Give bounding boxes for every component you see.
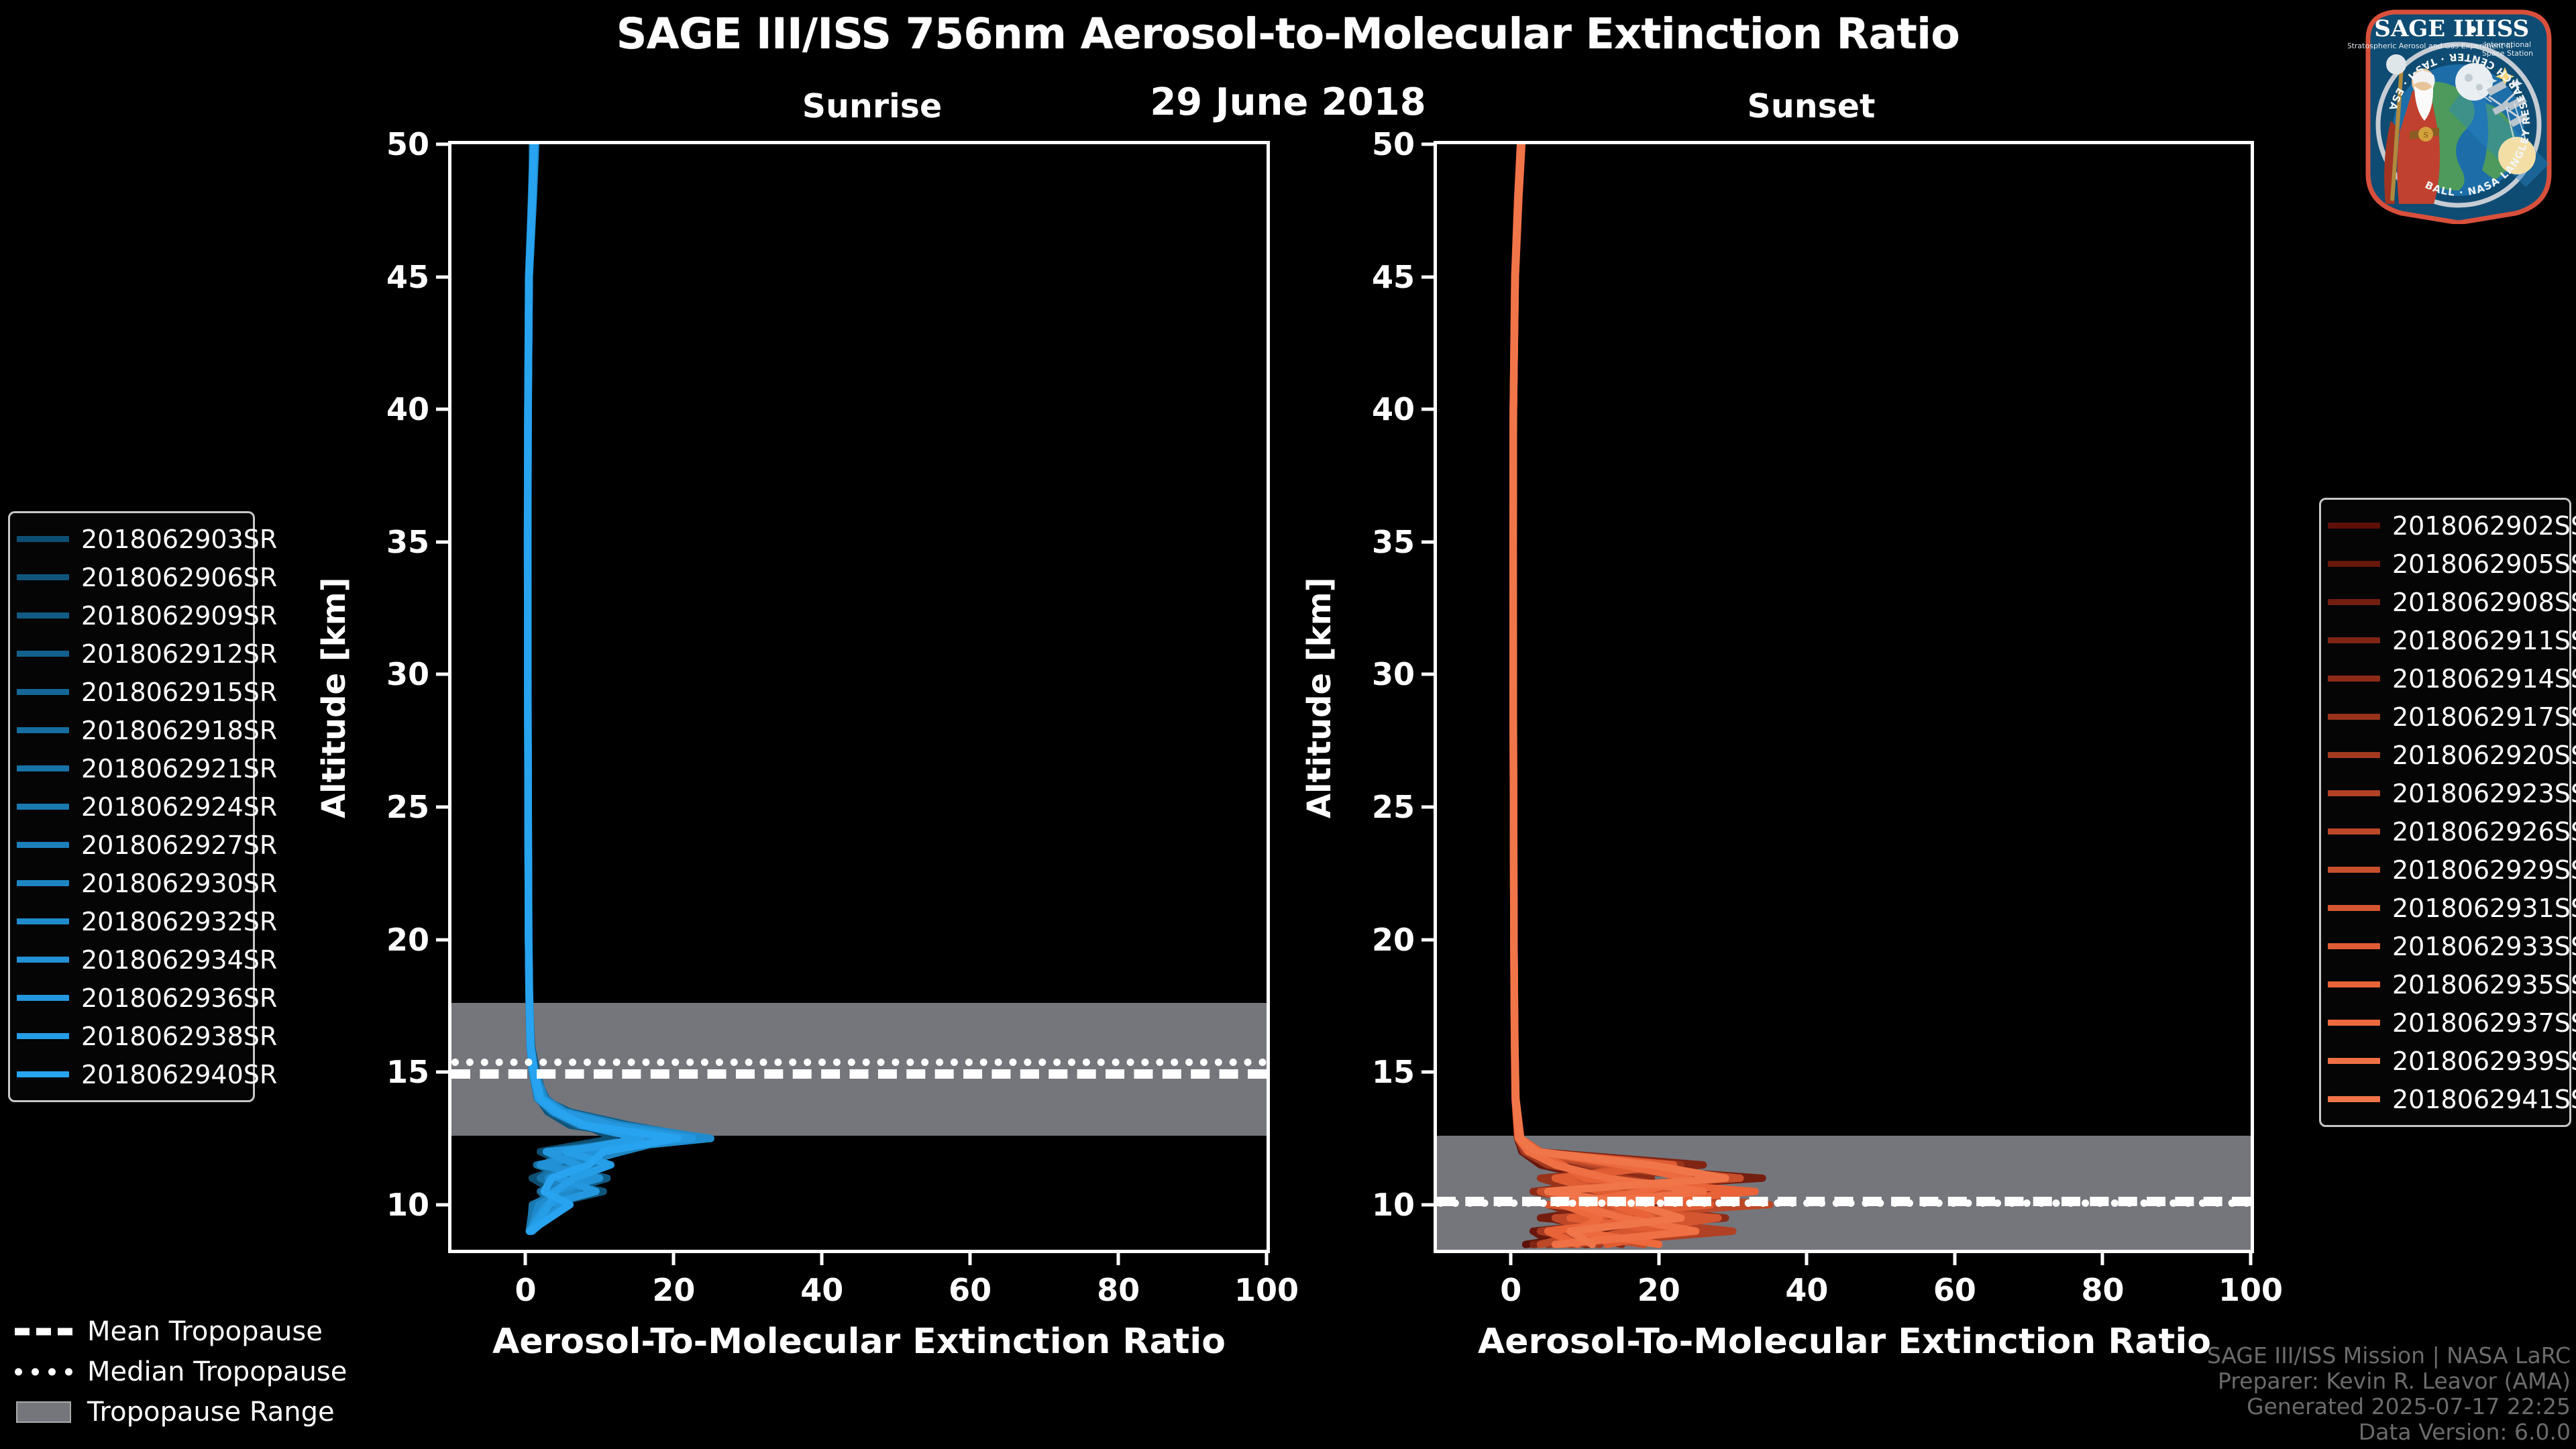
legend-color-swatch bbox=[2328, 523, 2380, 529]
sunset-x-axis-title: Aerosol-To-Molecular Extinction Ratio bbox=[1366, 1322, 2322, 1362]
y-axis-tick-label: 40 bbox=[362, 391, 429, 427]
legend-item-label: 2018062918SR bbox=[81, 716, 277, 745]
svg-text:ISS: ISS bbox=[2486, 15, 2529, 42]
y-axis-tick-label: 50 bbox=[1348, 126, 1415, 162]
legend-item[interactable]: 2018062931SS bbox=[2328, 889, 2560, 927]
profile-line bbox=[1513, 144, 1726, 1244]
x-axis-tick-mark bbox=[2249, 1253, 2253, 1265]
y-axis-tick-label: 15 bbox=[362, 1054, 429, 1090]
tropopause-legend-item: Mean Tropopause bbox=[15, 1311, 390, 1352]
legend-color-swatch bbox=[2328, 714, 2380, 720]
x-axis-tick-mark bbox=[1509, 1253, 1513, 1265]
legend-item-label: 2018062914SS bbox=[2392, 664, 2576, 694]
legend-item-label: 2018062915SR bbox=[81, 678, 277, 707]
x-axis-tick-mark bbox=[1657, 1253, 1660, 1265]
y-axis-tick-label: 35 bbox=[1348, 524, 1415, 560]
profile-curves bbox=[1437, 144, 2251, 1250]
profile-curves bbox=[451, 144, 1267, 1250]
x-axis-tick-label: 0 bbox=[1500, 1272, 1521, 1308]
profile-line bbox=[1513, 144, 1726, 1244]
x-axis-tick-label: 20 bbox=[1638, 1272, 1680, 1308]
profile-line bbox=[527, 144, 692, 1231]
median-tropopause-line bbox=[1437, 1199, 2251, 1207]
profile-line bbox=[527, 144, 614, 1231]
legend-color-swatch bbox=[2328, 676, 2380, 682]
profile-line bbox=[528, 144, 696, 1231]
legend-item-label: 2018062921SR bbox=[81, 754, 277, 784]
legend-color-swatch bbox=[17, 880, 69, 886]
y-axis-tick-mark bbox=[436, 806, 448, 809]
y-axis-tick-mark bbox=[1421, 1071, 1434, 1074]
x-axis-tick-label: 40 bbox=[1785, 1272, 1828, 1308]
profile-line bbox=[1513, 144, 1763, 1244]
legend-item-label: 2018062931SS bbox=[2392, 894, 2576, 923]
legend-item-label: 2018062911SS bbox=[2392, 626, 2576, 655]
y-axis-tick-mark bbox=[1421, 408, 1434, 411]
legend-color-swatch bbox=[17, 842, 69, 848]
legend-item-label: 2018062929SS bbox=[2392, 855, 2576, 885]
profile-line bbox=[1513, 144, 1711, 1244]
legend-item[interactable]: 2018062921SR bbox=[17, 749, 244, 788]
y-axis-tick-label: 20 bbox=[362, 922, 429, 958]
x-axis-tick-label: 60 bbox=[1933, 1272, 1976, 1308]
profile-line bbox=[1513, 144, 1688, 1244]
legend-color-swatch bbox=[17, 1033, 69, 1039]
legend-item-label: 2018062903SR bbox=[81, 525, 277, 554]
legend-item[interactable]: 2018062939SS bbox=[2328, 1042, 2560, 1080]
profile-line bbox=[1513, 144, 1718, 1244]
legend-color-swatch bbox=[2328, 828, 2380, 835]
svg-text:SAGE III: SAGE III bbox=[2374, 15, 2485, 42]
profile-line bbox=[527, 144, 644, 1231]
legend-color-swatch bbox=[17, 995, 69, 1001]
svg-text:S: S bbox=[2423, 131, 2428, 140]
legend-color-swatch bbox=[17, 957, 69, 963]
legend-item[interactable]: 2018062924SR bbox=[17, 788, 244, 826]
legend-color-swatch bbox=[17, 612, 69, 619]
legend-item[interactable]: 2018062937SS bbox=[2328, 1004, 2560, 1042]
sage-iii-iss-mission-patch-logo: S BALL · NASA LANGLEY RESEARCH CENTER · … bbox=[2348, 3, 2569, 224]
legend-item[interactable]: 2018062908SS bbox=[2328, 583, 2560, 621]
page-title: SAGE III/ISS 756nm Aerosol-to-Molecular … bbox=[0, 9, 2576, 58]
legend-item[interactable]: 2018062941SS bbox=[2328, 1080, 2560, 1118]
x-axis-tick-mark bbox=[1953, 1253, 1956, 1265]
legend-color-swatch bbox=[2328, 561, 2380, 567]
tropopause-legend-label: Mean Tropopause bbox=[87, 1316, 323, 1347]
legend-color-swatch bbox=[17, 804, 69, 810]
legend-item[interactable]: 2018062936SR bbox=[17, 979, 244, 1017]
legend-color-swatch bbox=[2328, 943, 2380, 949]
legend-item[interactable]: 2018062923SS bbox=[2328, 774, 2560, 812]
legend-item-label: 2018062902SS bbox=[2392, 511, 2576, 541]
y-axis-tick-label: 35 bbox=[362, 524, 429, 560]
sunrise-legend[interactable]: 2018062903SR2018062906SR2018062909SR2018… bbox=[8, 511, 255, 1102]
legend-item-label: 2018062920SS bbox=[2392, 741, 2576, 770]
legend-color-swatch bbox=[17, 574, 69, 580]
legend-color-swatch bbox=[2328, 981, 2380, 987]
legend-item-label: 2018062939SS bbox=[2392, 1046, 2576, 1076]
median-tropopause-line bbox=[451, 1059, 1267, 1066]
tropopause-legend: Mean TropopauseMedian TropopauseTropopau… bbox=[15, 1311, 390, 1432]
legend-color-swatch bbox=[17, 727, 69, 733]
tropopause-legend-item: Median Tropopause bbox=[15, 1352, 390, 1392]
sunrise-y-axis-title: Altitude [km] bbox=[315, 577, 353, 818]
legend-color-swatch bbox=[2328, 867, 2380, 873]
legend-item-label: 2018062934SR bbox=[81, 945, 277, 975]
y-axis-tick-label: 30 bbox=[1348, 656, 1415, 692]
profile-line bbox=[528, 144, 689, 1231]
y-axis-tick-label: 20 bbox=[1348, 922, 1415, 958]
legend-item-label: 2018062923SS bbox=[2392, 779, 2576, 808]
profile-line bbox=[1513, 144, 1703, 1244]
sunset-panel-label: Sunset bbox=[1610, 87, 2012, 125]
legend-color-swatch bbox=[2328, 905, 2380, 911]
legend-color-swatch bbox=[17, 765, 69, 771]
y-axis-tick-mark bbox=[436, 143, 448, 146]
legend-color-swatch bbox=[17, 536, 69, 542]
mean-tropopause-line bbox=[451, 1069, 1267, 1079]
y-axis-tick-mark bbox=[1421, 143, 1434, 146]
legend-item-label: 2018062908SS bbox=[2392, 588, 2576, 617]
y-axis-tick-label: 25 bbox=[1348, 789, 1415, 825]
legend-item-label: 2018062909SR bbox=[81, 601, 277, 631]
y-axis-tick-label: 45 bbox=[362, 259, 429, 295]
profile-line bbox=[1513, 144, 1733, 1244]
legend-item[interactable]: 2018062938SR bbox=[17, 1017, 244, 1055]
x-axis-tick-label: 60 bbox=[949, 1272, 991, 1308]
profile-line bbox=[1513, 144, 1741, 1244]
legend-item[interactable]: 2018062906SR bbox=[17, 558, 244, 596]
legend-item[interactable]: 2018062934SR bbox=[17, 941, 244, 979]
profile-line bbox=[528, 144, 641, 1231]
y-axis-tick-mark bbox=[436, 275, 448, 278]
legend-item[interactable]: 2018062926SS bbox=[2328, 812, 2560, 851]
sunrise-panel-label: Sunrise bbox=[671, 87, 1073, 125]
legend-item-label: 2018062932SR bbox=[81, 907, 277, 936]
sunrise-plot-area bbox=[448, 141, 1270, 1253]
legend-item[interactable]: 2018062903SR bbox=[17, 520, 244, 558]
legend-color-swatch bbox=[2328, 1020, 2380, 1026]
profile-line bbox=[528, 144, 678, 1231]
y-axis-tick-mark bbox=[1421, 938, 1434, 941]
y-axis-tick-mark bbox=[436, 408, 448, 411]
profile-line bbox=[1513, 144, 1719, 1244]
y-axis-tick-mark bbox=[1421, 1203, 1434, 1206]
profile-line bbox=[528, 144, 652, 1231]
y-axis-tick-mark bbox=[436, 540, 448, 543]
footer-credits: SAGE III/ISS Mission | NASA LaRC Prepare… bbox=[2207, 1343, 2571, 1445]
legend-item-label: 2018062912SR bbox=[81, 639, 277, 669]
profile-line bbox=[1513, 144, 1748, 1244]
x-axis-tick-mark bbox=[820, 1253, 824, 1265]
y-axis-tick-mark bbox=[436, 673, 448, 676]
legend-color-swatch bbox=[2328, 1096, 2380, 1102]
profile-line bbox=[1513, 144, 1696, 1244]
legend-color-swatch bbox=[2328, 599, 2380, 605]
legend-item[interactable]: 2018062918SR bbox=[17, 711, 244, 749]
legend-item[interactable]: 2018062914SS bbox=[2328, 659, 2560, 698]
legend-color-swatch bbox=[17, 918, 69, 924]
x-axis-tick-mark bbox=[2101, 1253, 2104, 1265]
legend-item-label: 2018062927SR bbox=[81, 830, 277, 860]
legend-color-swatch bbox=[2328, 790, 2380, 796]
x-axis-tick-mark bbox=[1805, 1253, 1809, 1265]
y-axis-tick-mark bbox=[1421, 806, 1434, 809]
footer-generated: Generated 2025-07-17 22:25 bbox=[2207, 1394, 2571, 1419]
svg-text:Space Station: Space Station bbox=[2482, 49, 2533, 58]
tropopause-legend-key bbox=[15, 1405, 72, 1419]
profile-line bbox=[1513, 144, 1704, 1244]
legend-item-label: 2018062905SS bbox=[2392, 549, 2576, 579]
profile-line bbox=[1513, 144, 1756, 1244]
x-axis-tick-label: 40 bbox=[800, 1272, 843, 1308]
profile-line bbox=[528, 144, 659, 1231]
legend-item-label: 2018062930SR bbox=[81, 869, 277, 898]
x-axis-tick-mark bbox=[969, 1253, 972, 1265]
profile-line bbox=[528, 144, 667, 1231]
tropopause-legend-key bbox=[15, 1324, 72, 1339]
legend-item[interactable]: 2018062915SR bbox=[17, 673, 244, 711]
y-axis-tick-label: 50 bbox=[362, 126, 429, 162]
x-axis-tick-label: 100 bbox=[2218, 1272, 2283, 1308]
profile-line bbox=[528, 144, 674, 1231]
legend-item[interactable]: 2018062927SR bbox=[17, 826, 244, 864]
legend-item[interactable]: 2018062940SR bbox=[17, 1055, 244, 1093]
profile-line bbox=[527, 144, 681, 1231]
legend-item-label: 2018062940SR bbox=[81, 1060, 277, 1089]
y-axis-tick-label: 45 bbox=[1348, 259, 1415, 295]
y-axis-tick-label: 10 bbox=[1348, 1187, 1415, 1223]
footer-preparer: Preparer: Kevin R. Leavor (AMA) bbox=[2207, 1368, 2571, 1394]
sunset-y-axis-title: Altitude [km] bbox=[1301, 577, 1338, 818]
y-axis-tick-mark bbox=[1421, 673, 1434, 676]
x-axis-tick-mark bbox=[524, 1253, 527, 1265]
legend-item-label: 2018062906SR bbox=[81, 563, 277, 592]
legend-item[interactable]: 2018062930SR bbox=[17, 864, 244, 902]
y-axis-tick-label: 40 bbox=[1348, 391, 1415, 427]
legend-item[interactable]: 2018062929SS bbox=[2328, 851, 2560, 889]
y-axis-tick-mark bbox=[436, 938, 448, 941]
legend-item[interactable]: 2018062912SR bbox=[17, 635, 244, 673]
legend-item[interactable]: 2018062920SS bbox=[2328, 736, 2560, 774]
profile-line bbox=[1513, 144, 1733, 1244]
svg-text:International: International bbox=[2484, 40, 2531, 49]
legend-item[interactable]: 2018062933SS bbox=[2328, 927, 2560, 965]
legend-item[interactable]: 2018062909SR bbox=[17, 596, 244, 635]
tropopause-legend-label: Median Tropopause bbox=[87, 1356, 347, 1387]
legend-color-swatch bbox=[2328, 1058, 2380, 1064]
date-subtitle: 29 June 2018 bbox=[0, 80, 2576, 124]
legend-item-label: 2018062917SS bbox=[2392, 702, 2576, 732]
legend-color-swatch bbox=[17, 689, 69, 695]
legend-item[interactable]: 2018062917SS bbox=[2328, 698, 2560, 736]
legend-item[interactable]: 2018062911SS bbox=[2328, 621, 2560, 659]
footer-mission: SAGE III/ISS Mission | NASA LaRC bbox=[2207, 1343, 2571, 1368]
y-axis-tick-label: 15 bbox=[1348, 1054, 1415, 1090]
x-axis-tick-label: 80 bbox=[2081, 1272, 2124, 1308]
tropopause-legend-item: Tropopause Range bbox=[15, 1392, 390, 1432]
x-axis-tick-mark bbox=[1117, 1253, 1120, 1265]
x-axis-tick-label: 80 bbox=[1097, 1272, 1140, 1308]
legend-color-swatch bbox=[17, 651, 69, 657]
y-axis-tick-label: 10 bbox=[362, 1187, 429, 1223]
y-axis-tick-label: 30 bbox=[362, 656, 429, 692]
profile-line bbox=[1513, 144, 1770, 1244]
legend-item[interactable]: 2018062905SS bbox=[2328, 545, 2560, 583]
y-axis-tick-mark bbox=[1421, 540, 1434, 543]
x-axis-tick-label: 0 bbox=[515, 1272, 536, 1308]
sunset-legend[interactable]: 2018062902SS2018062905SS2018062908SS2018… bbox=[2319, 498, 2571, 1127]
footer-data-version: Data Version: 6.0.0 bbox=[2207, 1419, 2571, 1445]
y-axis-tick-mark bbox=[1421, 275, 1434, 278]
x-axis-tick-label: 100 bbox=[1234, 1272, 1299, 1308]
legend-item-label: 2018062936SR bbox=[81, 983, 277, 1013]
profile-line bbox=[528, 144, 663, 1231]
sunrise-x-axis-title: Aerosol-To-Molecular Extinction Ratio bbox=[381, 1322, 1337, 1362]
y-axis-tick-mark bbox=[436, 1071, 448, 1074]
tropopause-legend-label: Tropopause Range bbox=[87, 1397, 335, 1428]
legend-item[interactable]: 2018062935SS bbox=[2328, 965, 2560, 1004]
legend-color-swatch bbox=[17, 1071, 69, 1077]
legend-item[interactable]: 2018062932SR bbox=[17, 902, 244, 941]
legend-color-swatch bbox=[2328, 752, 2380, 758]
sunset-plot-area bbox=[1434, 141, 2254, 1253]
x-axis-tick-label: 20 bbox=[652, 1272, 695, 1308]
y-axis-tick-label: 25 bbox=[362, 789, 429, 825]
legend-color-swatch bbox=[2328, 637, 2380, 643]
y-axis-tick-mark bbox=[436, 1203, 448, 1206]
x-axis-tick-mark bbox=[1265, 1253, 1269, 1265]
legend-item-label: 2018062941SS bbox=[2392, 1085, 2576, 1114]
legend-item-label: 2018062938SR bbox=[81, 1022, 277, 1051]
legend-item-label: 2018062926SS bbox=[2392, 817, 2576, 847]
legend-item[interactable]: 2018062902SS bbox=[2328, 506, 2560, 545]
tropopause-legend-key bbox=[15, 1364, 72, 1379]
legend-item-label: 2018062924SR bbox=[81, 792, 277, 822]
legend-item-label: 2018062933SS bbox=[2392, 932, 2576, 961]
profile-line bbox=[528, 144, 704, 1231]
x-axis-tick-mark bbox=[672, 1253, 676, 1265]
legend-item-label: 2018062937SS bbox=[2392, 1008, 2576, 1038]
profile-line bbox=[528, 144, 711, 1231]
legend-item-label: 2018062935SS bbox=[2392, 970, 2576, 1000]
